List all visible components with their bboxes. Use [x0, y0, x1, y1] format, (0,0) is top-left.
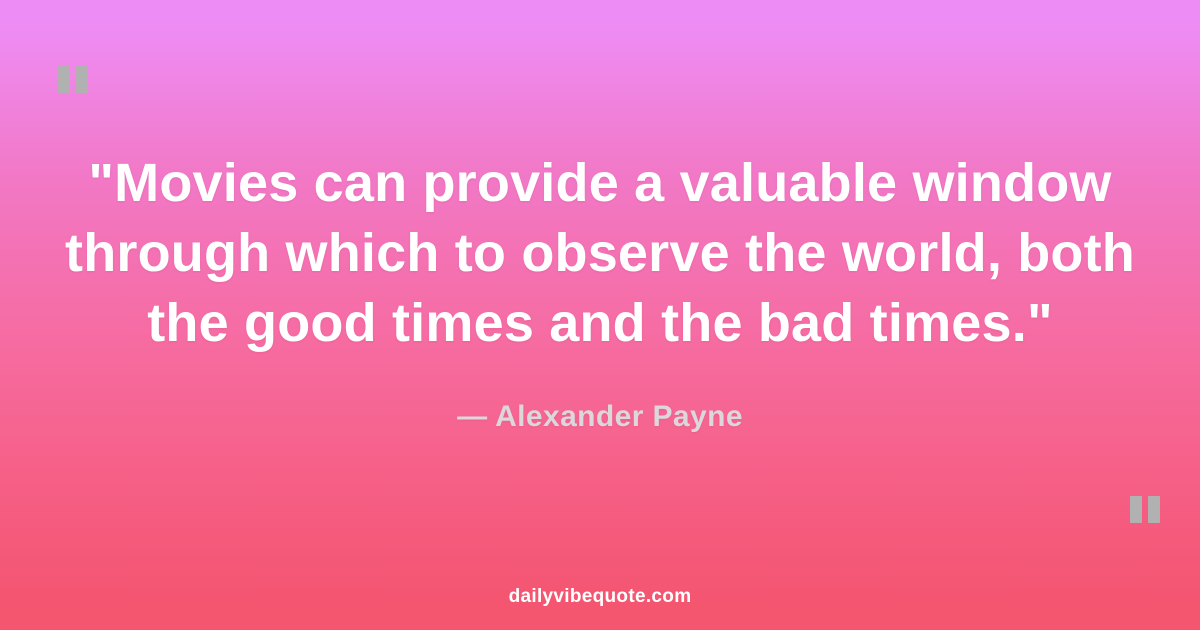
site-watermark: dailyvibequote.com	[0, 586, 1200, 608]
quote-mark-bar-right	[76, 66, 88, 93]
quote-attribution: — Alexander Payne	[0, 400, 1200, 434]
quote-mark-open-icon	[58, 66, 88, 93]
quote-mark-bar-left	[1130, 496, 1142, 523]
quote-line-2: through which to observe the world, both	[0, 218, 1200, 288]
quote-mark-close-icon	[1130, 496, 1160, 523]
quote-line-3: the good times and the bad times."	[0, 288, 1200, 358]
quote-mark-bar-right	[1148, 496, 1160, 523]
quote-card: "Movies can provide a valuable window th…	[0, 0, 1200, 630]
quote-text: "Movies can provide a valuable window th…	[0, 148, 1200, 358]
quote-line-1: "Movies can provide a valuable window	[0, 148, 1200, 218]
quote-mark-bar-left	[58, 66, 70, 93]
